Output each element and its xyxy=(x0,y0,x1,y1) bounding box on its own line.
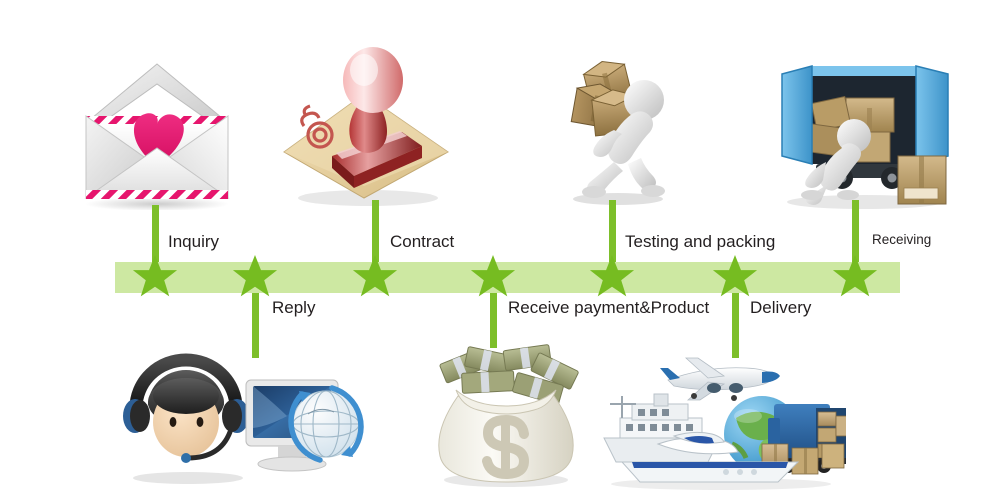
envelope-heart-icon xyxy=(72,58,242,210)
money-bag-icon xyxy=(428,338,588,490)
step-label-reply: Reply xyxy=(272,298,315,317)
step-label-delivery: Delivery xyxy=(750,298,811,317)
porter-boxes-icon xyxy=(558,58,688,208)
rubber-stamp-icon xyxy=(276,38,454,210)
support-agent-computer-icon xyxy=(118,350,368,490)
step-label-receive-payment-product: Receive payment&Product xyxy=(508,298,709,317)
step-label-inquiry: Inquiry xyxy=(168,232,219,251)
step-label-contract: Contract xyxy=(390,232,454,251)
step-label-receiving: Receiving xyxy=(872,230,931,249)
delivery-truck-icon xyxy=(770,52,960,214)
step-label-testing-and-packing: Testing and packing xyxy=(625,232,775,251)
timeline-bar xyxy=(115,262,900,293)
global-logistics-icon xyxy=(596,348,846,490)
diagram-canvas: Inquiry Reply Contract Receive payment&P… xyxy=(0,0,1000,493)
